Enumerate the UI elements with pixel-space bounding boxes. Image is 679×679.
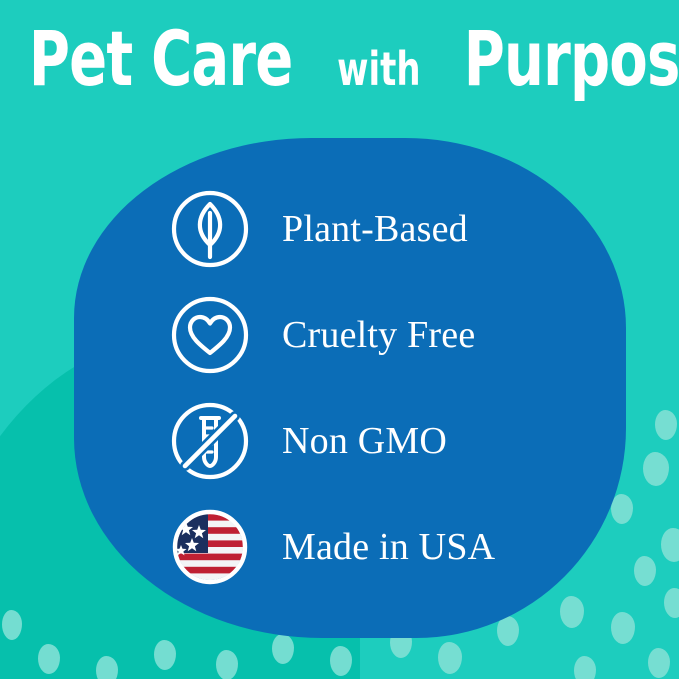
no-test-tube-icon (168, 399, 252, 483)
headline-part-3: Purpose (464, 14, 679, 103)
claim-label: Made in USA (282, 528, 495, 566)
promo-graphic: Pet Care with Purpose ® Plant-Based (0, 0, 679, 679)
headline-part-1: Pet Care (29, 14, 293, 103)
list-item: Non GMO (168, 388, 588, 494)
list-item: Made in USA (168, 494, 588, 600)
claim-label: Non GMO (282, 422, 447, 460)
heart-in-circle-icon (168, 293, 252, 377)
page-title: Pet Care with Purpose ® (0, 14, 679, 103)
headline-part-2: with (335, 42, 422, 96)
claim-label: Plant-Based (282, 210, 468, 248)
leaf-in-circle-icon (168, 187, 252, 271)
claims-list: Plant-Based Cruelty Free (168, 176, 588, 600)
list-item: Cruelty Free (168, 282, 588, 388)
claim-label: Cruelty Free (282, 316, 475, 354)
list-item: Plant-Based (168, 176, 588, 282)
usa-flag-circle-icon (168, 505, 252, 589)
